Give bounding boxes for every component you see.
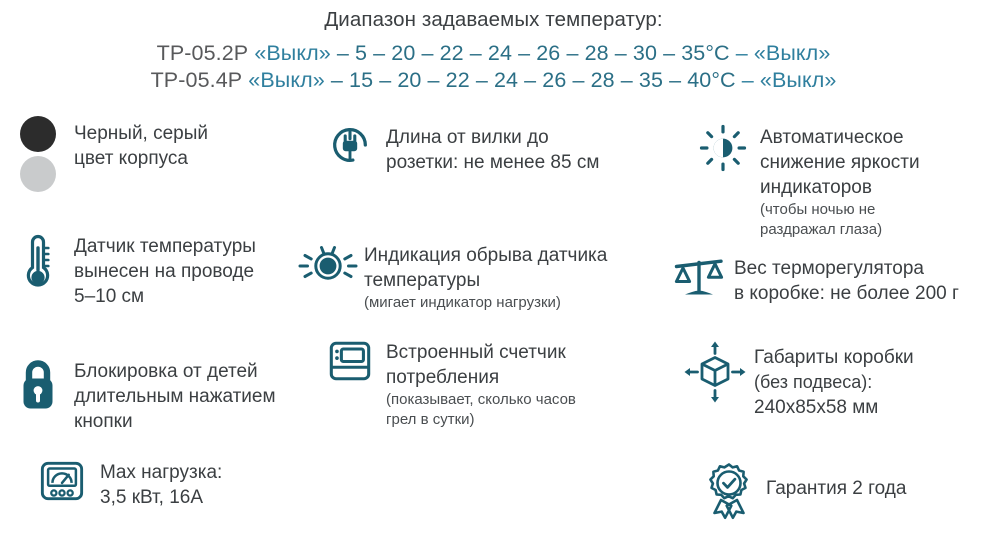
two-color-dots-icon bbox=[10, 116, 66, 192]
feature-line: 240х85х58 мм bbox=[754, 395, 987, 420]
range-sequence: – 5 – 20 – 22 – 24 – 26 – 28 – 30 – 35°С bbox=[337, 41, 730, 65]
feature-line: цвет корпуса bbox=[74, 146, 310, 171]
feature-note-line: (без подвеса): bbox=[754, 370, 987, 395]
page-title: Диапазон задаваемых температур: bbox=[0, 6, 987, 34]
feature-line: Автоматическое bbox=[760, 125, 987, 150]
feature-consumption-meter: Встроенный счетчик потребления (показыва… bbox=[322, 338, 662, 430]
scales-icon bbox=[668, 256, 730, 300]
feature-warranty: Гарантия 2 года bbox=[698, 462, 987, 520]
feature-cord-length: Длина от вилки до розетки: не менее 85 с… bbox=[322, 122, 652, 175]
feature-note-line: раздражал глаза) bbox=[760, 220, 987, 240]
feature-auto-dimming: Автоматическое снижение яркости индикато… bbox=[690, 122, 987, 240]
model-label: ТР-05.2Р bbox=[157, 41, 249, 65]
model-label: ТР-05.4Р bbox=[151, 68, 243, 92]
feature-line: температуры bbox=[364, 268, 662, 293]
gray-dot-icon bbox=[20, 156, 56, 192]
blinking-indicator-icon bbox=[292, 243, 364, 289]
feature-line: Встроенный счетчик bbox=[386, 340, 662, 365]
feature-remote-sensor: Датчик температуры вынесен на проводе 5–… bbox=[10, 232, 310, 309]
feature-text: Гарантия 2 года bbox=[760, 462, 987, 501]
feature-text: Длина от вилки до розетки: не менее 85 с… bbox=[378, 122, 652, 175]
feature-line: Датчик температуры bbox=[74, 234, 310, 259]
feature-line: Блокировка от детей bbox=[74, 359, 320, 384]
feature-note-line: (показывает, сколько часов bbox=[386, 390, 662, 410]
feature-line: розетки: не менее 85 см bbox=[386, 150, 652, 175]
range-dash: – bbox=[742, 68, 754, 92]
feature-text: Вес терморегулятора в коробке: не более … bbox=[730, 256, 987, 306]
feature-line: Вес терморегулятора bbox=[734, 256, 987, 281]
feature-line: снижение яркости bbox=[760, 150, 987, 175]
off-start-label: «Выкл» bbox=[254, 41, 331, 65]
thermometer-icon bbox=[10, 232, 66, 294]
award-badge-icon bbox=[698, 462, 760, 520]
black-dot-icon bbox=[20, 116, 56, 152]
off-end-label: «Выкл» bbox=[754, 41, 831, 65]
feature-line: индикаторов bbox=[760, 175, 987, 200]
feature-text: Датчик температуры вынесен на проводе 5–… bbox=[66, 232, 310, 309]
feature-text: Блокировка от детей длительным нажатием … bbox=[66, 358, 320, 434]
feature-case-color: Черный, серый цвет корпуса bbox=[10, 116, 310, 192]
feature-line: кнопки bbox=[74, 409, 320, 434]
feature-line: в коробке: не более 200 г bbox=[734, 281, 987, 306]
feature-line: Гарантия 2 года bbox=[766, 476, 987, 501]
feature-box-dimensions: Габариты коробки (без подвеса): 240х85х5… bbox=[678, 340, 987, 420]
feature-note-line: (мигает индикатор нагрузки) bbox=[364, 293, 662, 313]
header-block: Диапазон задаваемых температур: ТР-05.2Р… bbox=[0, 6, 987, 94]
feature-line: Мax нагрузка: bbox=[100, 460, 334, 485]
feature-text: Мax нагрузка: 3,5 кВт, 16А bbox=[90, 458, 334, 510]
feature-text: Автоматическое снижение яркости индикато… bbox=[756, 122, 987, 240]
feature-sensor-break: Индикация обрыва датчика температуры (ми… bbox=[292, 243, 662, 313]
feature-line: Длина от вилки до bbox=[386, 125, 652, 150]
feature-line: Габариты коробки bbox=[754, 345, 987, 370]
feature-max-load: Мax нагрузка: 3,5 кВт, 16А bbox=[34, 458, 334, 510]
gauge-icon bbox=[34, 458, 90, 504]
feature-note-line: грел в сутки) bbox=[386, 410, 662, 430]
feature-weight: Вес терморегулятора в коробке: не более … bbox=[668, 256, 987, 306]
feature-child-lock: Блокировка от детей длительным нажатием … bbox=[10, 358, 320, 434]
temperature-range-row: ТР-05.2Р «Выкл» – 5 – 20 – 22 – 24 – 26 … bbox=[0, 40, 987, 67]
box-dimensions-icon bbox=[678, 340, 752, 404]
range-sequence: – 15 – 20 – 22 – 24 – 26 – 28 – 35 – 40°… bbox=[331, 68, 736, 92]
range-dash: – bbox=[736, 41, 748, 65]
padlock-icon bbox=[10, 358, 66, 412]
temperature-range-row: ТР-05.4Р «Выкл» – 15 – 20 – 22 – 24 – 26… bbox=[0, 67, 987, 94]
feature-text: Индикация обрыва датчика температуры (ми… bbox=[364, 243, 662, 313]
feature-line: 3,5 кВт, 16А bbox=[100, 485, 334, 510]
feature-line: Индикация обрыва датчика bbox=[364, 243, 662, 268]
feature-line: вынесен на проводе bbox=[74, 259, 310, 284]
plug-icon bbox=[322, 122, 378, 168]
feature-line: 5–10 см bbox=[74, 284, 310, 309]
feature-line: потребления bbox=[386, 365, 662, 390]
feature-text: Габариты коробки (без подвеса): 240х85х5… bbox=[752, 340, 987, 420]
feature-line: длительным нажатием bbox=[74, 384, 320, 409]
feature-line: Черный, серый bbox=[74, 121, 310, 146]
off-start-label: «Выкл» bbox=[248, 68, 325, 92]
feature-text: Встроенный счетчик потребления (показыва… bbox=[378, 338, 662, 430]
feature-text: Черный, серый цвет корпуса bbox=[66, 116, 310, 171]
off-end-label: «Выкл» bbox=[760, 68, 837, 92]
brightness-icon bbox=[690, 122, 756, 174]
meter-display-icon bbox=[322, 338, 378, 384]
feature-note-line: (чтобы ночью не bbox=[760, 200, 987, 220]
